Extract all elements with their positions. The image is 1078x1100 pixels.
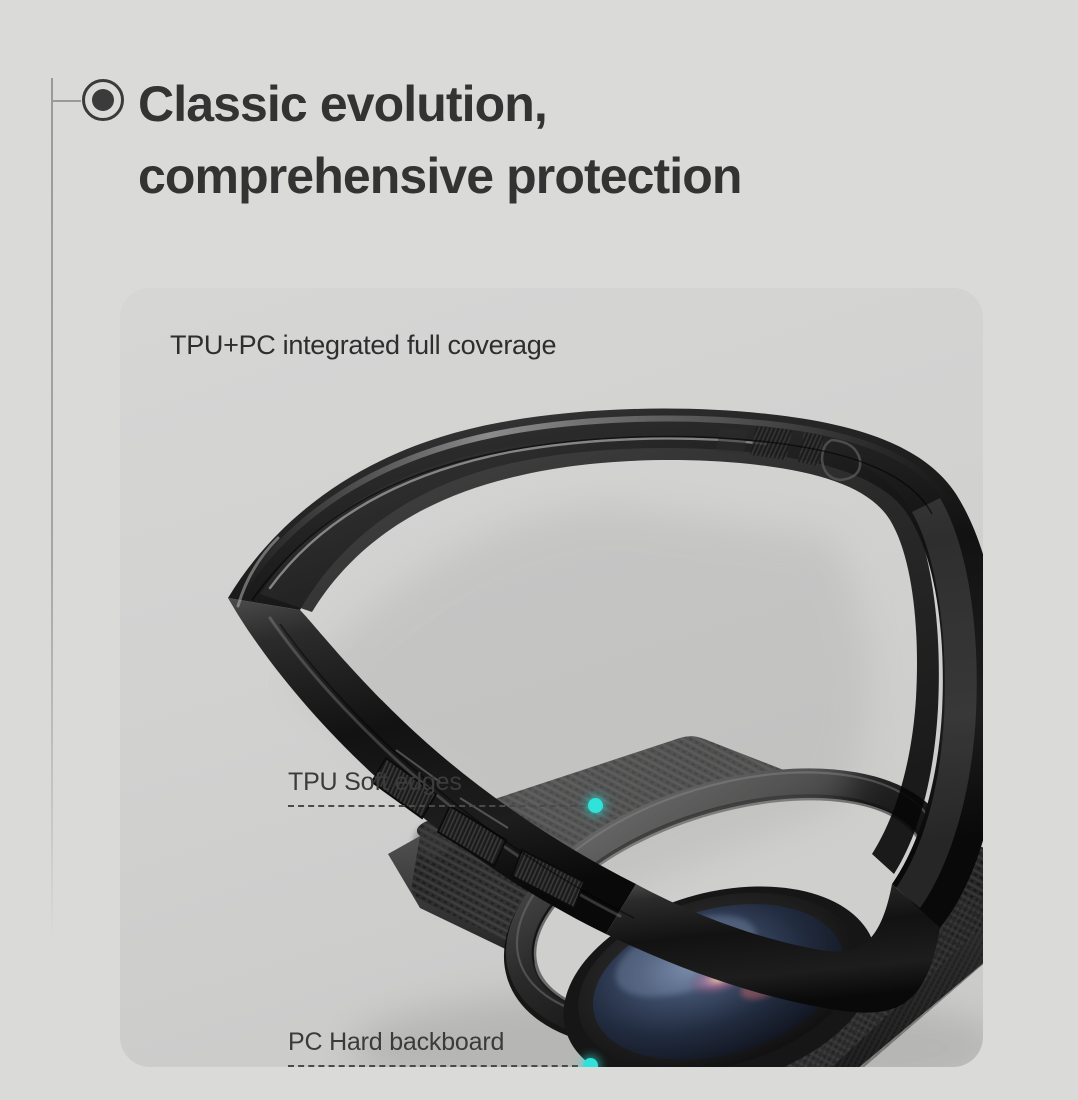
left-rail-connector-line [53,100,81,102]
annotation-leader-line-tpu [288,805,596,807]
annotation-marker-dot-tpu [588,798,603,813]
annotation-marker-dot-pc [583,1058,598,1067]
annotation-label-tpu: TPU Soft edges [288,768,462,797]
page-title: Classic evolution, comprehensive protect… [138,68,998,212]
target-dot-core [92,89,114,111]
headline-line-1: Classic evolution, [138,68,998,140]
annotation-leader-line-pc [288,1065,578,1067]
card-title: TPU+PC integrated full coverage [170,330,556,361]
product-image [120,288,983,1067]
target-dot-icon [82,79,124,121]
annotation-label-pc: PC Hard backboard [288,1028,504,1057]
headline-line-2: comprehensive protection [138,140,998,212]
left-rail-vertical-line [51,78,53,940]
feature-card: TPU+PC integrated full coverage [120,288,983,1067]
